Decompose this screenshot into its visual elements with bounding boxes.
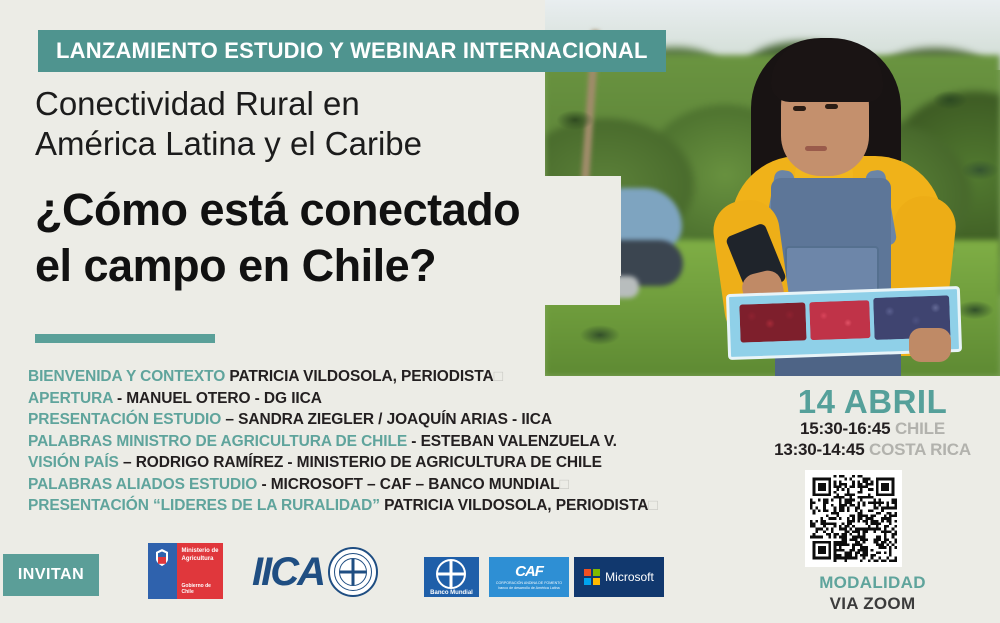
agenda-item-value: - MANUEL OTERO - DG IICA [113, 390, 322, 407]
agenda-item-value: – RODRIGO RAMÍREZ - MINISTERIO DE AGRICU… [119, 454, 602, 471]
headline-block: ¿Cómo está conectado el campo en Chile? [0, 178, 620, 305]
banco-mundial-wordmark: Banco Mundial [430, 590, 473, 596]
minagri-name: Ministerio de Agricultura [182, 548, 219, 563]
logo-ministerio-agricultura-chile: Ministerio de Agricultura Gobierno de Ch… [148, 543, 223, 599]
escudo-de-chile-icon [151, 548, 173, 568]
invitan-label: INVITAN [18, 566, 84, 584]
event-timezone: COSTA RICA [865, 440, 971, 459]
event-timezone: CHILE [890, 419, 945, 438]
qr-code-image[interactable] [810, 475, 897, 562]
caf-tagline: CORPORACIÓN ANDINA DE FOMENTObanco de de… [496, 581, 562, 590]
subtitle-line-1: Conectividad Rural en [35, 84, 535, 124]
invitan-badge: INVITAN [3, 554, 99, 596]
agenda-item-label: PRESENTACIÓN ESTUDIO [28, 411, 221, 428]
event-time: 13:30-14:45 [774, 440, 864, 459]
event-time-row: 15:30-16:45 CHILE [745, 418, 1000, 439]
agenda-item-value: - ESTEBAN VALENZUELA V. [407, 433, 617, 450]
page-title: ¿Cómo está conectado el campo en Chile? [0, 182, 620, 295]
agenda-item-label: VISIÓN PAÍS [28, 454, 119, 471]
modality-block: MODALIDAD VIA ZOOM [745, 573, 1000, 614]
headline-line-1: ¿Cómo está conectado [35, 182, 620, 238]
agenda-item-trailing-glyph: □ [494, 368, 503, 385]
agenda-item-value: PATRICIA VILDOSOLA, PERIODISTA [225, 368, 493, 385]
event-times: 15:30-16:45 CHILE13:30-14:45 COSTA RICA [745, 418, 1000, 460]
subtitle-line-2: América Latina y el Caribe [35, 124, 535, 164]
photo-woman-farmer [713, 28, 983, 376]
logo-microsoft: Microsoft [574, 557, 664, 597]
agenda-item-trailing-glyph: □ [560, 476, 569, 493]
event-date: 14 ABRIL [745, 383, 1000, 421]
agenda-item: VISIÓN PAÍS – RODRIGO RAMÍREZ - MINISTER… [28, 452, 728, 474]
agenda-item-label: APERTURA [28, 390, 113, 407]
agenda-item: PRESENTACIÓN ESTUDIO – SANDRA ZIEGLER / … [28, 409, 728, 431]
agenda-item-label: PRESENTACIÓN “LIDERES DE LA RURALIDAD” [28, 497, 380, 514]
minagri-gov: Gobierno de Chile [182, 583, 224, 595]
teal-divider-rule [35, 334, 215, 343]
agenda-item-trailing-glyph: □ [648, 497, 657, 514]
modality-value: VIA ZOOM [745, 594, 1000, 614]
microsoft-squares-icon [584, 569, 600, 585]
logo-banco-mundial: Banco Mundial [424, 557, 479, 597]
qr-code[interactable] [805, 470, 902, 567]
world-bank-globe-icon [436, 559, 466, 589]
event-poster: LANZAMIENTO ESTUDIO Y WEBINAR INTERNACIO… [0, 0, 1000, 623]
microsoft-wordmark: Microsoft [605, 570, 654, 584]
caf-wordmark: CAF [496, 563, 562, 580]
agenda-item-value: – SANDRA ZIEGLER / JOAQUÍN ARIAS - IICA [221, 411, 552, 428]
subtitle: Conectividad Rural en América Latina y e… [35, 84, 535, 165]
event-time-row: 13:30-14:45 COSTA RICA [745, 439, 1000, 460]
iica-seal-icon [328, 547, 378, 597]
agenda-item: BIENVENIDA Y CONTEXTO PATRICIA VILDOSOLA… [28, 366, 728, 388]
agenda-item: PRESENTACIÓN “LIDERES DE LA RURALIDAD” P… [28, 495, 728, 517]
logo-iica: IICA [252, 548, 378, 596]
headline-line-2: el campo en Chile? [35, 238, 620, 294]
agenda-list: BIENVENIDA Y CONTEXTO PATRICIA VILDOSOLA… [28, 366, 728, 517]
agenda-item-value: PATRICIA VILDOSOLA, PERIODISTA [380, 497, 648, 514]
kicker-banner: LANZAMIENTO ESTUDIO Y WEBINAR INTERNACIO… [38, 30, 666, 72]
iica-wordmark: IICA [252, 552, 324, 592]
agenda-item-label: PALABRAS ALIADOS ESTUDIO [28, 476, 257, 493]
logo-caf: CAF CORPORACIÓN ANDINA DE FOMENTObanco d… [489, 557, 569, 597]
agenda-item: PALABRAS MINISTRO DE AGRICULTURA DE CHIL… [28, 431, 728, 453]
agenda-item-label: BIENVENIDA Y CONTEXTO [28, 368, 225, 385]
agenda-item-value: - MICROSOFT – CAF – BANCO MUNDIAL [257, 476, 559, 493]
agenda-item: APERTURA - MANUEL OTERO - DG IICA [28, 388, 728, 410]
agenda-item: PALABRAS ALIADOS ESTUDIO - MICROSOFT – C… [28, 474, 728, 496]
event-time: 15:30-16:45 [800, 419, 890, 438]
modality-label: MODALIDAD [745, 573, 1000, 593]
kicker-text: LANZAMIENTO ESTUDIO Y WEBINAR INTERNACIO… [56, 38, 648, 64]
agenda-item-label: PALABRAS MINISTRO DE AGRICULTURA DE CHIL… [28, 433, 407, 450]
